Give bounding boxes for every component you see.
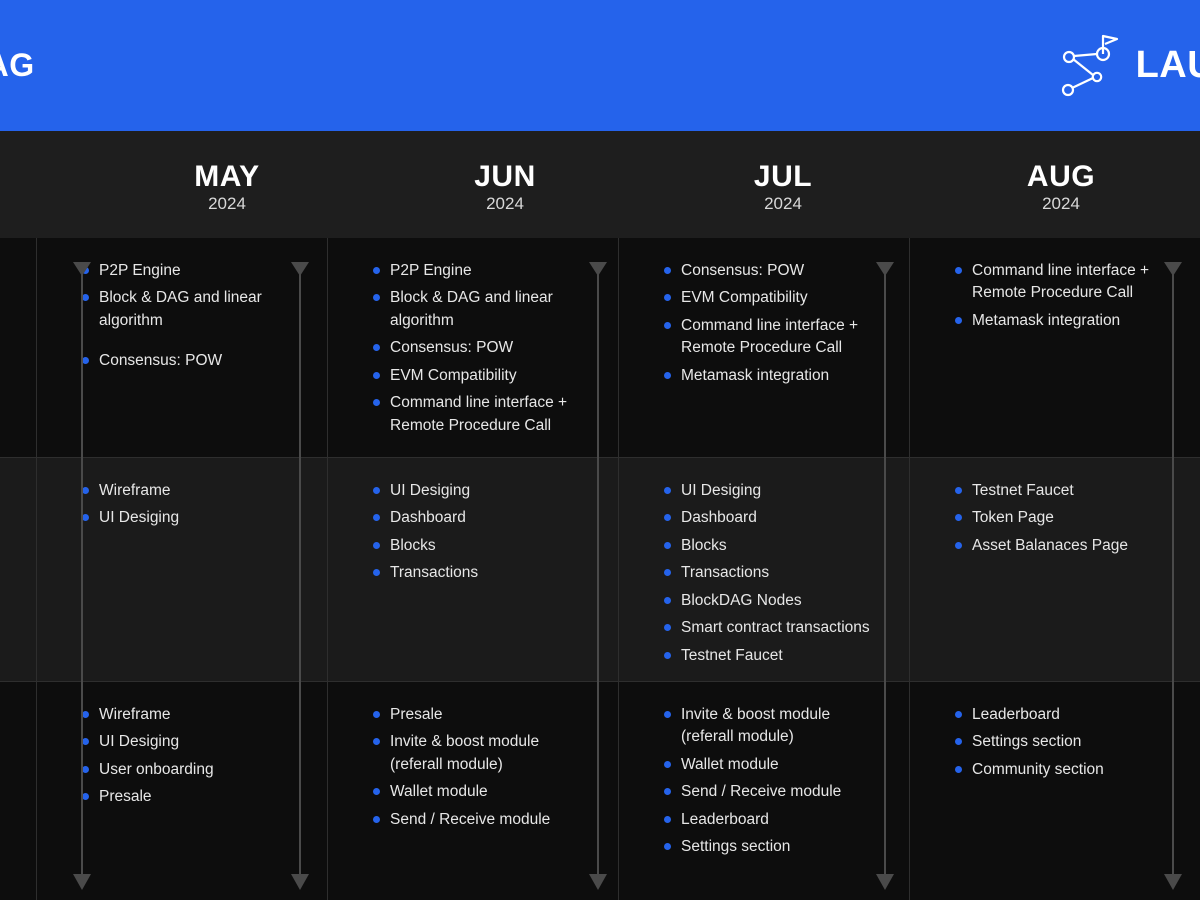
roadmap-item: Invite & boost module (referall module): [373, 731, 594, 776]
month-name: MAY: [194, 161, 259, 193]
roadmap-item: Transactions: [373, 562, 594, 584]
roadmap-item: Send / Receive module: [373, 809, 594, 831]
roadmap-item: Block & DAG and linear algorithm: [82, 287, 303, 332]
roadmap-item: Settings section: [955, 731, 1176, 753]
item-list: LeaderboardSettings sectionCommunity sec…: [955, 704, 1176, 781]
item-list: Invite & boost module (referall module)W…: [664, 704, 885, 859]
cell-app-may: WireframeUI DesigingUser onboardingPresa…: [36, 682, 327, 900]
roadmap-item: Wireframe: [82, 704, 303, 726]
month-name: JUL: [754, 161, 812, 193]
roadmap-row-app: WireframeUI DesigingUser onboardingPresa…: [0, 682, 1200, 900]
month-column-jul: JUL 2024: [644, 131, 922, 238]
roadmap-rows: N P2P EngineBlock & DAG and linear algor…: [0, 238, 1200, 900]
roadmap-item: UI Desiging: [82, 507, 303, 529]
roadmap-item: EVM Compatibility: [664, 287, 885, 309]
row-columns: P2P EngineBlock & DAG and linear algorit…: [36, 238, 1200, 458]
roadmap-item: User onboarding: [82, 759, 303, 781]
month-year: 2024: [486, 194, 524, 214]
item-list: UI DesigingDashboardBlocksTransactionsBl…: [664, 480, 885, 667]
item-list: PresaleInvite & boost module (referall m…: [373, 704, 594, 831]
cell-mainnet-may: P2P EngineBlock & DAG and linear algorit…: [36, 238, 327, 458]
roadmap-item: Consensus: POW: [664, 260, 885, 282]
roadmap-item: Metamask integration: [955, 310, 1176, 332]
roadmap-item: Send / Receive module: [664, 781, 885, 803]
item-list: Command line interface + Remote Procedur…: [955, 260, 1176, 332]
cell-mainnet-aug: Command line interface + Remote Procedur…: [909, 238, 1200, 458]
month-column-jun: JUN 2024: [366, 131, 644, 238]
item-list: P2P EngineBlock & DAG and linear algorit…: [373, 260, 594, 437]
month-name: JUN: [474, 161, 536, 193]
cell-app-jul: Invite & boost module (referall module)W…: [618, 682, 909, 900]
month-column-may: MAY 2024: [88, 131, 366, 238]
month-header-band: MAY 2024 JUN 2024 JUL 2024 AUG 2024: [0, 131, 1200, 238]
cell-app-aug: LeaderboardSettings sectionCommunity sec…: [909, 682, 1200, 900]
roadmap-item: Blocks: [373, 535, 594, 557]
row-columns: WireframeUI Desiging UI DesigingDashboar…: [36, 458, 1200, 682]
banner-title-group: LAUNCH ROA: [1060, 32, 1200, 100]
roadmap-item: Dashboard: [664, 507, 885, 529]
item-list: WireframeUI DesigingUser onboardingPresa…: [82, 704, 303, 809]
roadmap-item: P2P Engine: [82, 260, 303, 282]
item-list: UI DesigingDashboardBlocksTransactions: [373, 480, 594, 585]
roadmap-item: Presale: [82, 786, 303, 808]
item-list: P2P EngineBlock & DAG and linear algorit…: [82, 260, 303, 373]
roadmap-item: Asset Balanaces Page: [955, 535, 1176, 557]
cell-scan-may: WireframeUI Desiging: [36, 458, 327, 682]
month-column-aug: AUG 2024: [922, 131, 1200, 238]
roadmap-item: BlockDAG Nodes: [664, 590, 885, 612]
item-list: Consensus: POWEVM CompatibilityCommand l…: [664, 260, 885, 387]
row-label-scan: can: [0, 458, 36, 682]
item-list: Testnet FaucetToken PageAsset Balanaces …: [955, 480, 1176, 557]
roadmap-item: Invite & boost module (referall module): [664, 704, 885, 749]
roadmap-item: Block & DAG and linear algorithm: [373, 287, 594, 332]
row-columns: WireframeUI DesigingUser onboardingPresa…: [36, 682, 1200, 900]
month-year: 2024: [208, 194, 246, 214]
month-year: 2024: [764, 194, 802, 214]
roadmap-item: Wireframe: [82, 480, 303, 502]
roadmap-item: Command line interface + Remote Procedur…: [373, 392, 594, 437]
roadmap-item: Command line interface + Remote Procedur…: [664, 315, 885, 360]
roadmap-item: Leaderboard: [955, 704, 1176, 726]
roadmap-item: UI Desiging: [82, 731, 303, 753]
roadmap-item: Testnet Faucet: [664, 645, 885, 667]
roadmap-item: Presale: [373, 704, 594, 726]
roadmap-item: Community section: [955, 759, 1176, 781]
cell-app-jun: PresaleInvite & boost module (referall m…: [327, 682, 618, 900]
brand-wordmark: DAG: [0, 47, 35, 84]
row-label-app: [0, 682, 36, 900]
roadmap-item: Leaderboard: [664, 809, 885, 831]
roadmap-item: Smart contract transactions: [664, 617, 885, 639]
roadmap-item: Wallet module: [373, 781, 594, 803]
roadmap-item: Token Page: [955, 507, 1176, 529]
roadmap-item: Wallet module: [664, 754, 885, 776]
month-name: AUG: [1027, 161, 1095, 193]
row-label-mainnet: N: [0, 238, 36, 458]
item-list: WireframeUI Desiging: [82, 480, 303, 530]
roadmap-item: EVM Compatibility: [373, 365, 594, 387]
roadmap-item: Consensus: POW: [373, 337, 594, 359]
cell-scan-jul: UI DesigingDashboardBlocksTransactionsBl…: [618, 458, 909, 682]
roadmap-item: Dashboard: [373, 507, 594, 529]
roadmap-item: UI Desiging: [664, 480, 885, 502]
roadmap-page: DAG LAUNCH ROA MAY 2024: [0, 0, 1200, 900]
month-columns: MAY 2024 JUN 2024 JUL 2024 AUG 2024: [88, 131, 1200, 238]
roadmap-item: UI Desiging: [373, 480, 594, 502]
roadmap-item: Command line interface + Remote Procedur…: [955, 260, 1176, 305]
roadmap-item: P2P Engine: [373, 260, 594, 282]
top-banner: DAG LAUNCH ROA: [0, 0, 1200, 131]
roadmap-item: Testnet Faucet: [955, 480, 1176, 502]
cell-scan-aug: Testnet FaucetToken PageAsset Balanaces …: [909, 458, 1200, 682]
roadmap-item: Consensus: POW: [82, 350, 303, 372]
roadmap-row-scan: can WireframeUI Desiging UI DesigingDash…: [0, 458, 1200, 682]
cell-mainnet-jun: P2P EngineBlock & DAG and linear algorit…: [327, 238, 618, 458]
banner-title: LAUNCH ROA: [1136, 44, 1200, 87]
roadmap-item: Metamask integration: [664, 365, 885, 387]
roadmap-row-mainnet: N P2P EngineBlock & DAG and linear algor…: [0, 238, 1200, 458]
network-nodes-flag-icon: [1060, 32, 1122, 100]
cell-scan-jun: UI DesigingDashboardBlocksTransactions: [327, 458, 618, 682]
cell-mainnet-jul: Consensus: POWEVM CompatibilityCommand l…: [618, 238, 909, 458]
roadmap-item: Blocks: [664, 535, 885, 557]
month-year: 2024: [1042, 194, 1080, 214]
roadmap-item: Settings section: [664, 836, 885, 858]
roadmap-item: Transactions: [664, 562, 885, 584]
